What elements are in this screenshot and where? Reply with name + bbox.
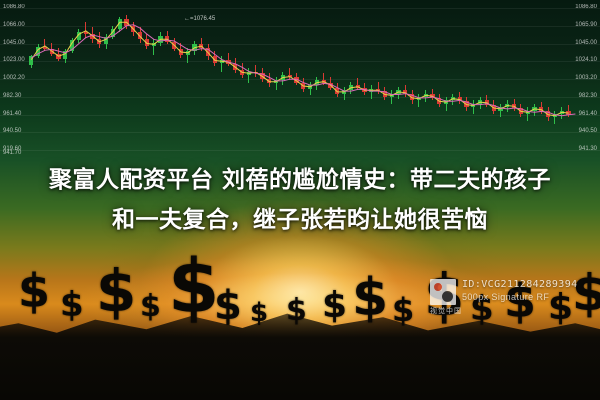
candle-wick (221, 56, 222, 71)
candle-body (43, 47, 47, 50)
candle-body (532, 107, 536, 110)
candle (356, 8, 360, 150)
candle (566, 8, 570, 150)
candle-body (288, 75, 292, 78)
candle (396, 8, 400, 150)
candle (158, 8, 162, 150)
candle (539, 8, 543, 150)
candle (444, 8, 448, 150)
candle (430, 8, 434, 150)
candle-body (546, 111, 550, 117)
candle (471, 8, 475, 150)
candle (145, 8, 149, 150)
candle (492, 8, 496, 150)
candle-body (70, 40, 74, 51)
candle-body (172, 42, 176, 49)
candle-body (206, 48, 210, 56)
candle-body (349, 85, 353, 90)
candle (97, 8, 101, 150)
candle-body (362, 88, 366, 92)
visual-china-logo-icon: 视觉中国 (430, 279, 456, 305)
screenshot-root: 1086.801066.001045.001023.001002.20982.3… (0, 0, 600, 400)
watermark-text-block: ID:VCG211284289394 500px Signature RF (462, 278, 578, 304)
headline-line-2: 和一夫复合，继子张若昀让她很苦恼 (10, 200, 590, 240)
candle-body (29, 56, 33, 64)
candle-body (220, 60, 224, 63)
candle (77, 8, 81, 150)
axis-tick-label-left: 940.50 (3, 128, 21, 134)
candle-body (498, 107, 502, 110)
dollar-sign-icon: $ (352, 272, 388, 324)
candle-body (437, 98, 441, 104)
axis-tick-label-left: 982.30 (3, 93, 21, 99)
candle-body (158, 36, 162, 43)
candle-body (417, 97, 421, 100)
candle (553, 8, 557, 150)
candle-body (226, 60, 230, 64)
candle (505, 8, 509, 150)
candle-body (90, 34, 94, 39)
candle-body (315, 80, 319, 85)
candle-body (50, 49, 54, 53)
candle-body (478, 100, 482, 103)
axis-tick-label-right: 982.30 (579, 93, 597, 99)
axis-tick-label-right: 940.50 (579, 128, 597, 134)
dollar-sign-icon: $ (214, 286, 242, 326)
dollar-sign-icon: $ (96, 262, 136, 320)
candle (84, 8, 88, 150)
candle (220, 8, 224, 150)
candle (165, 8, 169, 150)
axis-tick-label-right: 941.30 (579, 146, 597, 152)
watermark-id: ID:VCG211284289394 (462, 278, 578, 291)
candle-body (247, 72, 251, 75)
watermark-signature: 500px Signature RF (462, 291, 578, 304)
candle-body (328, 83, 332, 88)
candle (335, 8, 339, 150)
candle-body (430, 94, 434, 98)
candle-body (492, 105, 496, 111)
candle-body (36, 47, 40, 56)
candle (512, 8, 516, 150)
candle-body (410, 94, 414, 100)
candle-body (260, 73, 264, 79)
candle (50, 8, 54, 150)
candle (308, 8, 312, 150)
candle-body (512, 104, 516, 108)
candle-body (376, 89, 380, 92)
candle (36, 8, 40, 150)
candle-wick (85, 22, 86, 37)
candle (349, 8, 353, 150)
candle-body (356, 85, 360, 88)
candle-body (124, 19, 128, 26)
candle (240, 8, 244, 150)
candle-body (505, 104, 509, 107)
candlestick-series (28, 8, 572, 150)
candle-body (165, 36, 169, 42)
candle (519, 8, 523, 150)
candle-body (179, 49, 183, 55)
candle (437, 8, 441, 150)
dollar-sign-icon: $ (392, 294, 414, 326)
candle-body (566, 111, 570, 115)
candle (458, 8, 462, 150)
candle (104, 8, 108, 150)
candle (322, 8, 326, 150)
dollar-sign-icon: $ (168, 250, 220, 324)
candle-body (444, 100, 448, 103)
candle (43, 8, 47, 150)
candle-wick (344, 87, 345, 101)
candle (410, 8, 414, 150)
candle (111, 8, 115, 150)
candle-wick (153, 39, 154, 54)
candle-wick (248, 68, 249, 83)
dollar-sign-icon: $ (286, 296, 307, 326)
candle-body (335, 88, 339, 94)
candle (362, 8, 366, 150)
axis-tick-label-left: 1002.20 (3, 75, 25, 81)
axis-tick-label-left: 1066.00 (3, 22, 25, 28)
headline-line-1: 聚富人配资平台 刘蓓的尴尬情史：带二夫的孩子 (10, 160, 590, 200)
candle (498, 8, 502, 150)
candle (29, 8, 33, 150)
candle-body (104, 37, 108, 45)
candle-body (526, 111, 530, 114)
candle (179, 8, 183, 150)
candle (390, 8, 394, 150)
candle-body (267, 79, 271, 83)
dollar-sign-icon: $ (18, 268, 50, 314)
candle (281, 8, 285, 150)
candle-body (131, 26, 135, 33)
headline-text: 聚富人配资平台 刘蓓的尴尬情史：带二夫的孩子 和一夫复合，继子张若昀让她很苦恼 (0, 160, 600, 240)
candle-body (281, 75, 285, 80)
axis-tick-label-right: 1003.20 (575, 75, 597, 81)
candle-body (390, 94, 394, 97)
candle-wick (391, 90, 392, 104)
candle-body (322, 80, 326, 83)
candle-body (396, 90, 400, 93)
candle (560, 8, 564, 150)
candle (294, 8, 298, 150)
candle (315, 8, 319, 150)
candle-body (464, 101, 468, 107)
candle-body (240, 70, 244, 75)
candle (247, 8, 251, 150)
candle-body (199, 44, 203, 47)
candle-body (342, 90, 346, 93)
candle-wick (500, 104, 501, 118)
candle (301, 8, 305, 150)
axis-tick-label-right: 1024.10 (575, 57, 597, 63)
candle-body (519, 108, 523, 114)
candle (464, 8, 468, 150)
candle-body (254, 72, 258, 74)
candle (70, 8, 74, 150)
candle (226, 8, 230, 150)
candle (138, 8, 142, 150)
candle-body (56, 54, 60, 59)
candle-body (186, 51, 190, 54)
candle-body (213, 56, 217, 63)
candle (526, 8, 530, 150)
candle (131, 8, 135, 150)
candle-body (539, 107, 543, 111)
candle (233, 8, 237, 150)
candle-body (192, 44, 196, 51)
candle (267, 8, 271, 150)
candle (90, 8, 94, 150)
candle (254, 8, 258, 150)
dollar-sign-icon: $ (60, 288, 84, 322)
candle-body (77, 32, 81, 40)
dollar-sign-icon: $ (322, 288, 347, 324)
candle (485, 8, 489, 150)
axis-tick-label-right: 1065.90 (575, 22, 597, 28)
candle-body (97, 39, 101, 44)
candle (451, 8, 455, 150)
candle-body (560, 111, 564, 114)
candle-body (111, 29, 115, 37)
candle (199, 8, 203, 150)
candle-body (553, 114, 557, 117)
axis-tick-label-left: 1045.00 (3, 40, 25, 46)
candle (260, 8, 264, 150)
candle-body (233, 64, 237, 70)
chart-axis-bottom-label: 941.70 (3, 150, 21, 156)
candle (63, 8, 67, 150)
candle-body (138, 32, 142, 39)
candle-body (485, 100, 489, 104)
candle-wick (446, 97, 447, 111)
candle-body (152, 43, 156, 46)
candle-body (294, 77, 298, 82)
candle-body (63, 51, 67, 59)
candle (342, 8, 346, 150)
candle-body (403, 90, 407, 94)
candle-body (424, 94, 428, 97)
candle-body (458, 97, 462, 101)
candle (288, 8, 292, 150)
candle (532, 8, 536, 150)
chart-gridline (0, 150, 600, 151)
candle-body (118, 19, 122, 29)
axis-tick-label-right: 961.40 (579, 111, 597, 117)
axis-tick-label-left: 1086.80 (3, 4, 25, 10)
candle-body (301, 83, 305, 89)
axis-tick-label-left: 1023.00 (3, 57, 25, 63)
candle (206, 8, 210, 150)
candle (546, 8, 550, 150)
candle-body (84, 32, 88, 34)
dollar-sign-icon: $ (140, 292, 161, 322)
axis-tick-label-left: 961.40 (3, 111, 21, 117)
candle (424, 8, 428, 150)
candle-body (308, 85, 312, 88)
candle-body (145, 39, 149, 46)
candle (186, 8, 190, 150)
candle-body (369, 89, 373, 92)
candle (152, 8, 156, 150)
watermark-brand-label: 视觉中国 (430, 306, 462, 316)
candle (192, 8, 196, 150)
candle (369, 8, 373, 150)
dollar-sign-icon: $ (250, 300, 268, 326)
axis-tick-label-right: 1045.00 (575, 40, 597, 46)
watermark: 视觉中国 ID:VCG211284289394 500px Signature … (430, 278, 578, 305)
candle (213, 8, 217, 150)
candle (417, 8, 421, 150)
candle (328, 8, 332, 150)
candle (403, 8, 407, 150)
candle (56, 8, 60, 150)
candle (172, 8, 176, 150)
candle (478, 8, 482, 150)
candle-body (471, 104, 475, 107)
candle-wick (527, 107, 528, 121)
candle-body (274, 80, 278, 83)
candle-body (383, 91, 387, 97)
candle (124, 8, 128, 150)
candle (383, 8, 387, 150)
candle (376, 8, 380, 150)
axis-tick-label-right: 1086.80 (575, 4, 597, 10)
candle (274, 8, 278, 150)
candle-wick (371, 85, 372, 99)
candle-body (451, 97, 455, 100)
candle (118, 8, 122, 150)
candle-wick (187, 48, 188, 63)
